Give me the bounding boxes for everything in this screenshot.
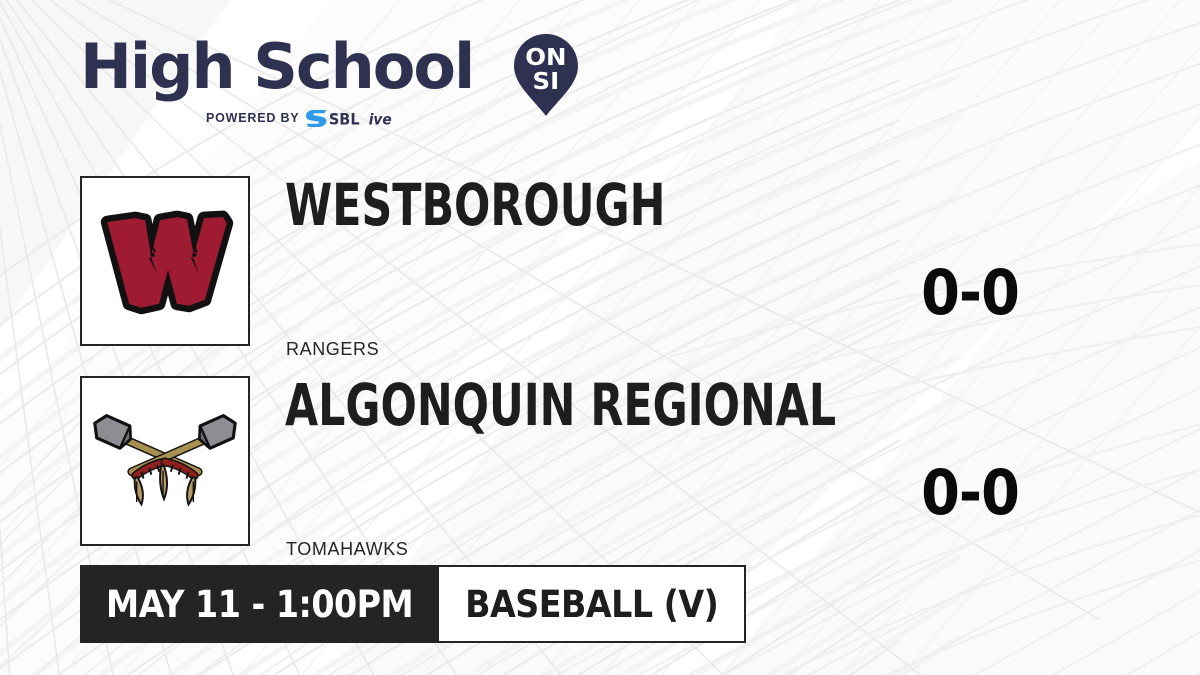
sblive-text-sbl: SBL: [329, 109, 360, 128]
home-team-name: ALGONQUIN REGIONAL: [285, 376, 836, 434]
home-team-score: 0-0: [870, 462, 1070, 524]
pin-label-bottom: SI: [533, 68, 560, 95]
brand-wordmark: High School: [80, 36, 510, 98]
sblive-text-ive: ive: [369, 110, 392, 128]
away-team-logo-box: [80, 176, 250, 346]
crossed-tomahawks-logo: [82, 378, 248, 544]
westborough-w-logo: [82, 178, 248, 344]
game-sport: BASEBALL (V): [439, 565, 746, 643]
away-team-score: 0-0: [870, 262, 1070, 324]
home-team-logo-box: [80, 376, 250, 546]
brand-lockup: High School ON SI POWERED BY SBL ive: [80, 36, 510, 136]
away-team-mascot: RANGERS: [286, 340, 379, 358]
game-datetime: MAY 11 - 1:00PM: [80, 565, 439, 643]
away-team-name: WESTBOROUGH: [285, 176, 665, 234]
matchup-graphic: High School ON SI POWERED BY SBL ive: [0, 0, 1200, 675]
pin-label-top: ON: [525, 44, 566, 71]
powered-by-label: POWERED BY: [206, 111, 299, 125]
on-si-pin-icon: ON SI: [510, 32, 582, 118]
home-team-mascot: TOMAHAWKS: [286, 540, 408, 558]
sblive-logo-icon: SBL ive: [306, 109, 406, 128]
powered-by-row: POWERED BY SBL ive: [206, 108, 406, 128]
game-info-bar: MAY 11 - 1:00PM BASEBALL (V): [80, 565, 746, 643]
